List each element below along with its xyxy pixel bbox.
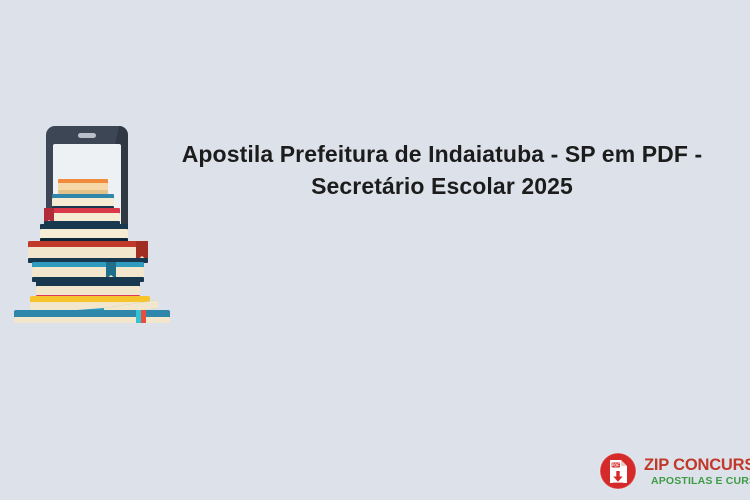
book-red-large	[28, 241, 148, 263]
title-line-2: Secretário Escolar 2025	[178, 170, 706, 202]
page-title: Apostila Prefeitura de Indaiatuba - SP e…	[178, 138, 706, 202]
title-line-1: Apostila Prefeitura de Indaiatuba - SP e…	[178, 138, 706, 170]
logo-tagline: APOSTILAS E CURSOS	[644, 476, 750, 487]
banner-background: Apostila Prefeitura de Indaiatuba - SP e…	[0, 0, 750, 500]
book-base-teal	[14, 310, 170, 323]
svg-text:PDF: PDF	[612, 463, 621, 468]
pdf-download-icon: PDF	[598, 451, 638, 491]
logo-text-block: ZIP CONCURSOS APOSTILAS E CURSOS	[644, 456, 750, 487]
book-blue-mid	[32, 262, 144, 282]
book-navy-mid	[40, 224, 128, 242]
stack-of-books-illustration	[8, 118, 178, 323]
book-navy-upper	[52, 194, 114, 210]
book-orange-top	[58, 179, 108, 194]
brand-logo[interactable]: PDF ZIP CONCURSOS APOSTILAS E CURSOS	[598, 448, 744, 494]
book-red-upper	[44, 208, 120, 225]
logo-brand-name: ZIP CONCURSOS	[644, 457, 750, 474]
